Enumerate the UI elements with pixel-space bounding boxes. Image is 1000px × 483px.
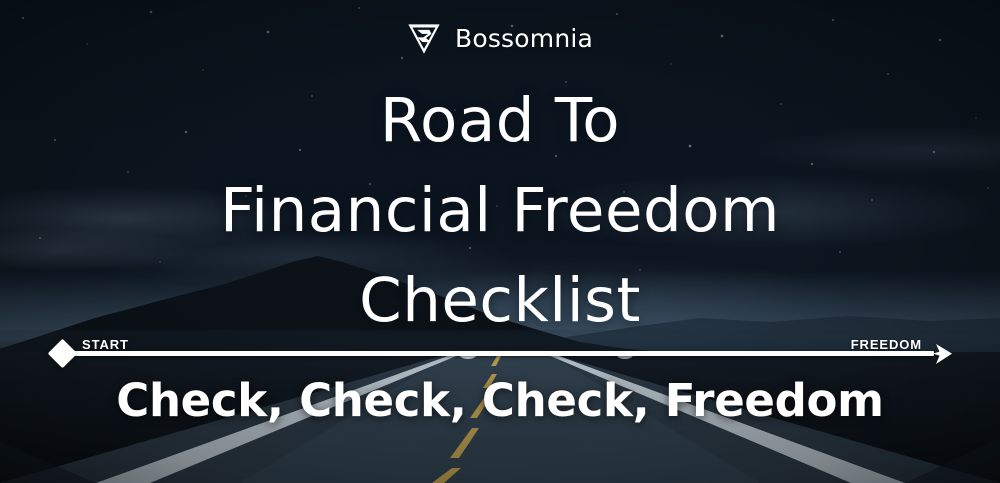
diamond-marker-icon bbox=[48, 339, 78, 369]
progress-start-label: START bbox=[82, 337, 129, 352]
page-title: Road To Financial Freedom Checklist bbox=[0, 76, 1000, 346]
progress-line bbox=[66, 351, 934, 356]
tagline: Check, Check, Check, Freedom bbox=[0, 374, 1000, 427]
brand-lockup: Bossomnia bbox=[0, 18, 1000, 58]
banner-content: Bossomnia Road To Financial Freedom Chec… bbox=[0, 0, 1000, 483]
title-line-2: Financial Freedom bbox=[0, 166, 1000, 256]
title-line-3: Checklist bbox=[0, 256, 1000, 346]
road-to-financial-freedom-banner: Bossomnia Road To Financial Freedom Chec… bbox=[0, 0, 1000, 483]
bossomnia-logo-icon bbox=[407, 21, 441, 55]
brand-name: Bossomnia bbox=[455, 24, 593, 53]
progress-end-label: FREEDOM bbox=[851, 337, 922, 352]
arrow-right-icon bbox=[930, 341, 956, 367]
progress-timeline: START FREEDOM bbox=[52, 336, 952, 370]
title-line-1: Road To bbox=[0, 76, 1000, 166]
